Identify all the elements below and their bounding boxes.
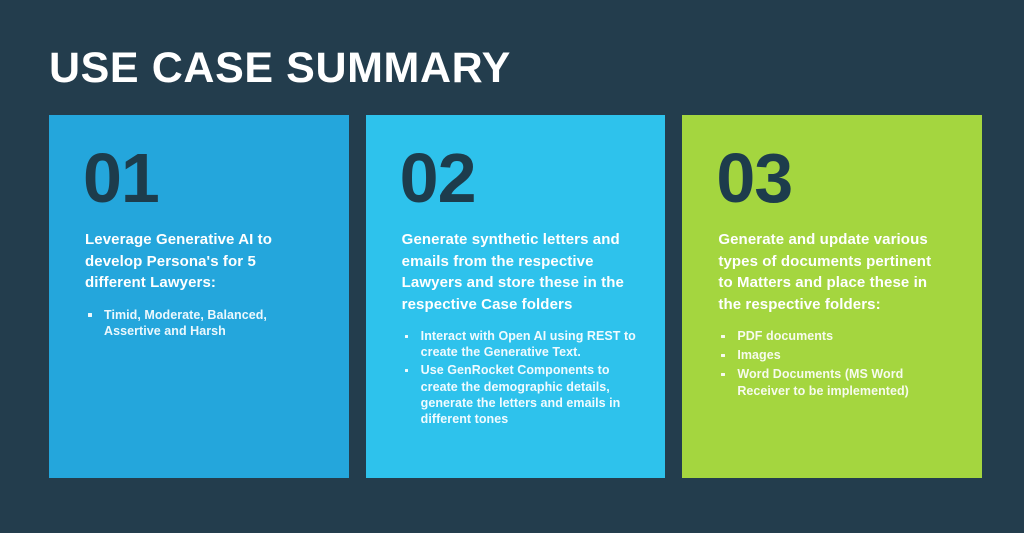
bullet-text: Interact with Open AI using REST to crea… (421, 329, 636, 359)
card-bullet-list-02: Interact with Open AI using REST to crea… (402, 328, 640, 427)
card-bullet-list-01: Timid, Moderate, Balanced, Assertive and… (85, 307, 323, 339)
list-item: Interact with Open AI using REST to crea… (402, 328, 640, 360)
bullet-text: Use GenRocket Components to create the d… (421, 363, 621, 426)
card-heading-02: Generate synthetic letters and emails fr… (402, 229, 632, 315)
card-heading-03: Generate and update various types of doc… (718, 229, 948, 315)
card-bullet-list-03: PDF documents Images Word Documents (MS … (718, 328, 950, 399)
use-case-card-row: 01 Leverage Generative AI to develop Per… (49, 115, 982, 478)
list-item: Timid, Moderate, Balanced, Assertive and… (85, 307, 323, 339)
use-case-card-01: 01 Leverage Generative AI to develop Per… (49, 115, 349, 478)
bullet-text: Word Documents (MS Word Receiver to be i… (737, 367, 909, 397)
page-title: USE CASE SUMMARY (49, 44, 511, 92)
list-item: PDF documents (718, 328, 950, 344)
bullet-dot-icon (721, 354, 725, 358)
bullet-text: PDF documents (737, 329, 833, 343)
bullet-dot-icon (405, 369, 409, 373)
use-case-card-02: 02 Generate synthetic letters and emails… (366, 115, 666, 478)
bullet-text: Images (737, 348, 780, 362)
card-number-01: 01 (83, 141, 325, 215)
list-item: Use GenRocket Components to create the d… (402, 362, 640, 427)
bullet-dot-icon (405, 335, 409, 339)
list-item: Word Documents (MS Word Receiver to be i… (718, 366, 950, 398)
list-item: Images (718, 347, 950, 363)
bullet-text: Timid, Moderate, Balanced, Assertive and… (104, 308, 267, 338)
card-heading-01: Leverage Generative AI to develop Person… (85, 229, 315, 294)
slide-canvas: USE CASE SUMMARY 01 Leverage Generative … (0, 0, 1024, 533)
card-number-02: 02 (400, 141, 642, 215)
bullet-dot-icon (721, 335, 725, 339)
bullet-dot-icon (88, 313, 92, 317)
card-number-03: 03 (716, 141, 958, 215)
use-case-card-03: 03 Generate and update various types of … (682, 115, 982, 478)
bullet-dot-icon (721, 373, 725, 377)
